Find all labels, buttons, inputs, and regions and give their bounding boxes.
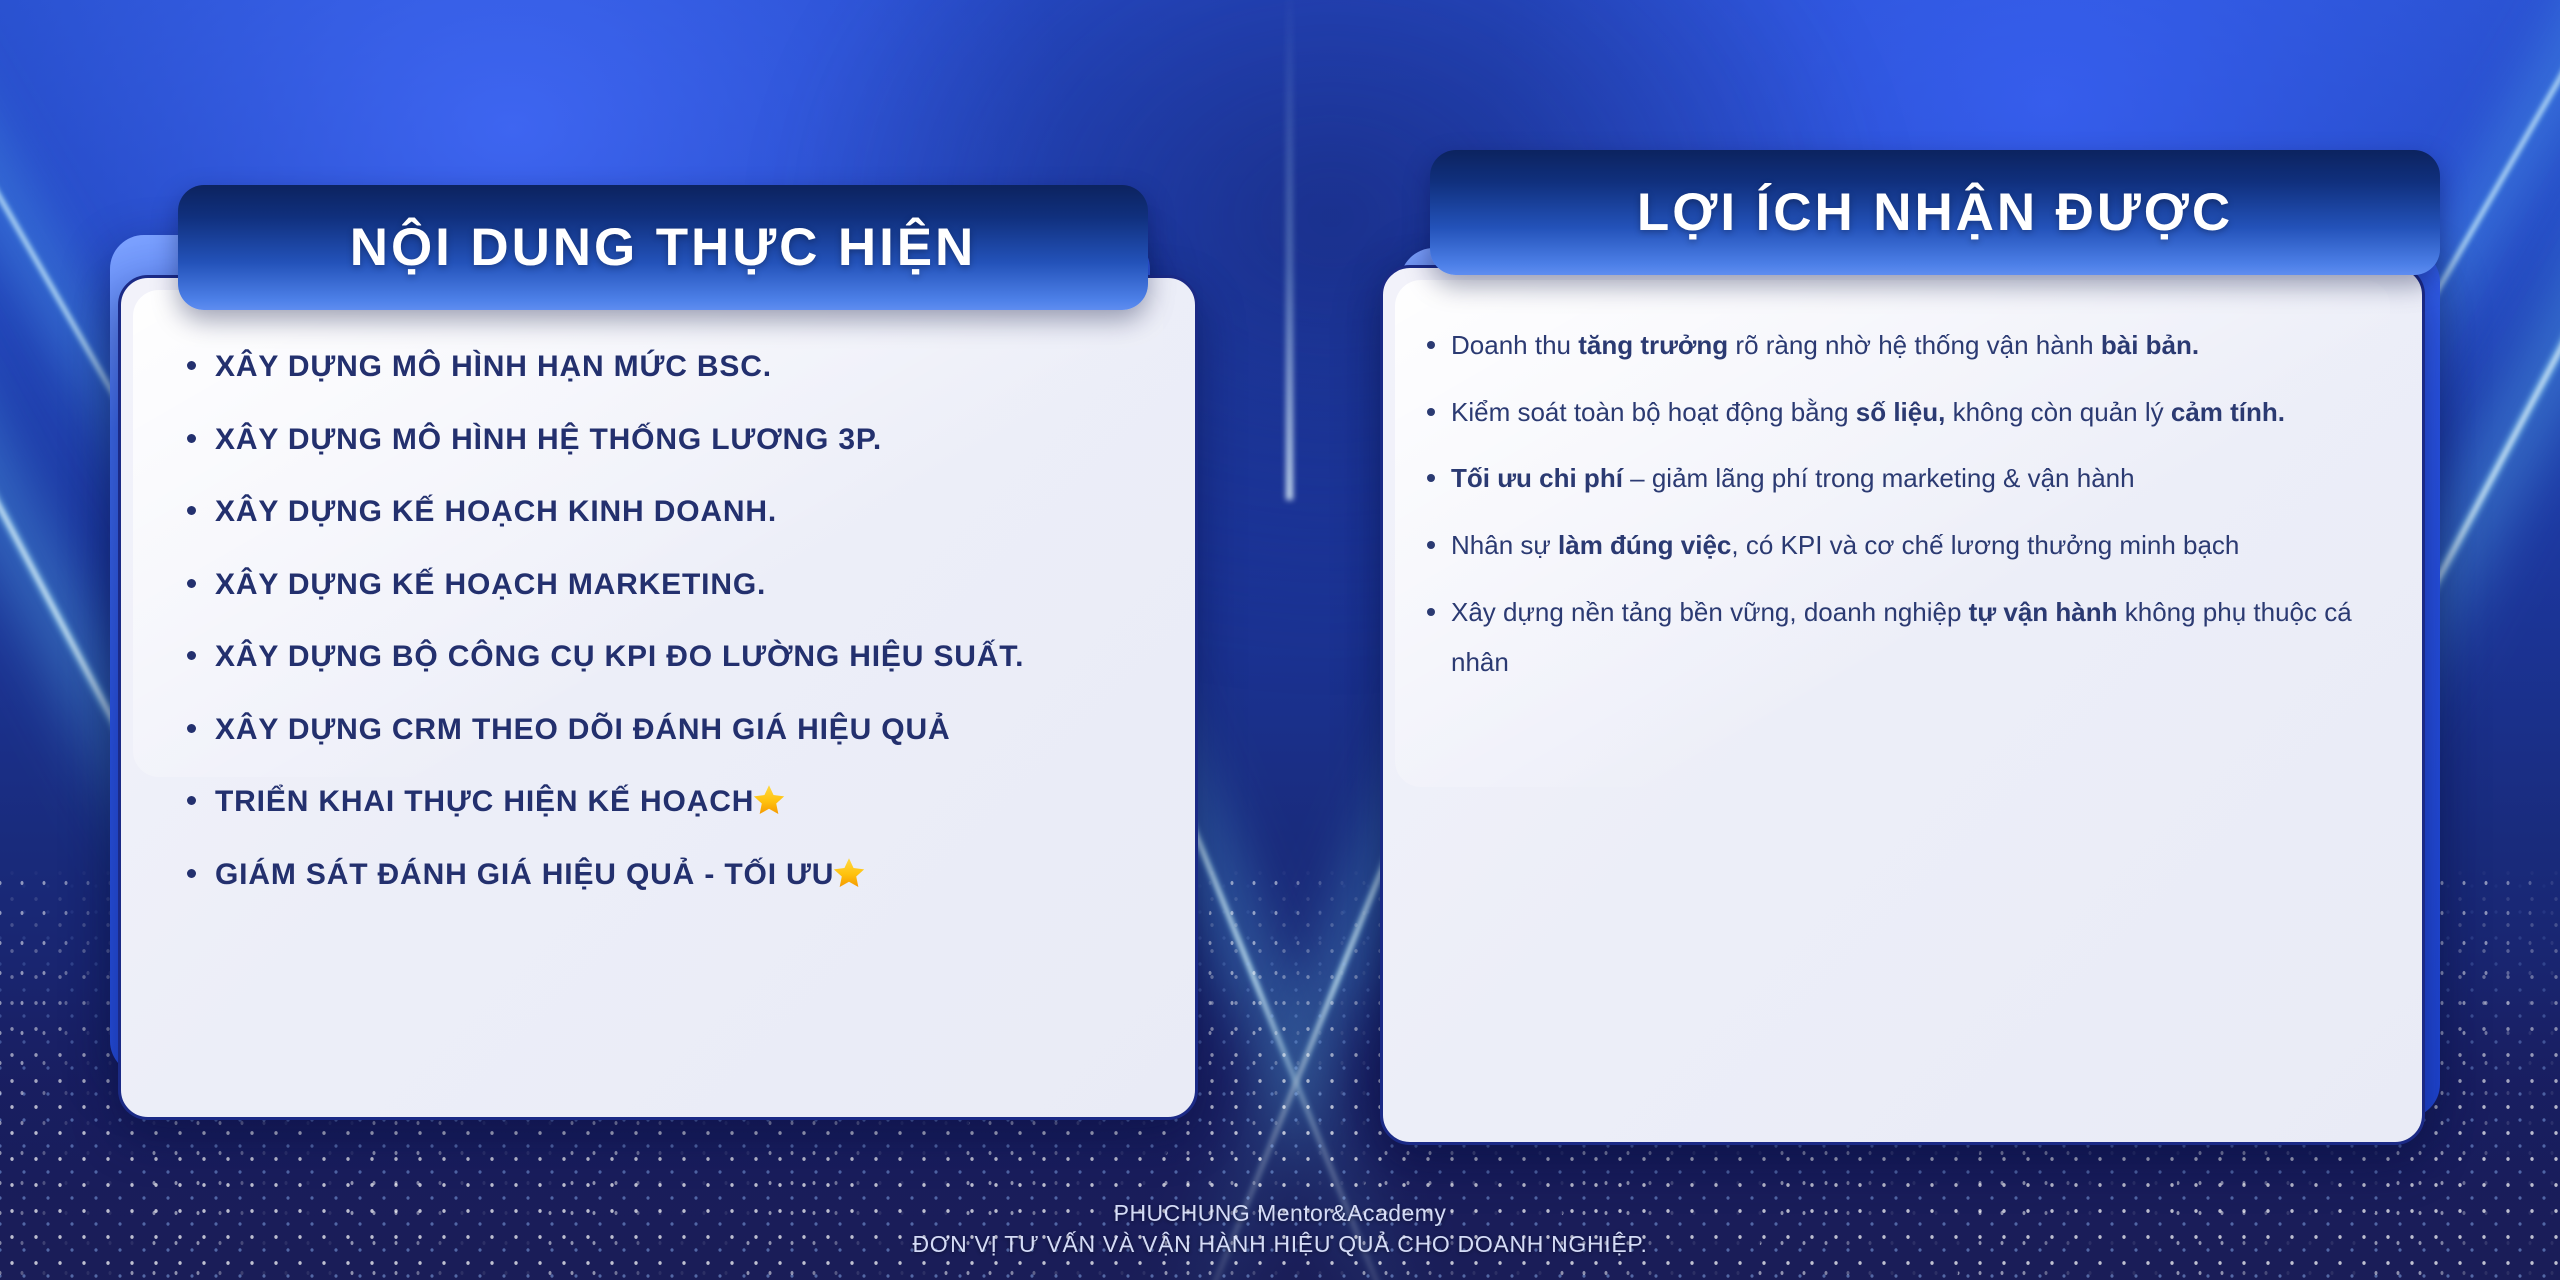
panel-card: Doanh thu tăng trưởng rõ ràng nhờ hệ thố… — [1380, 265, 2425, 1145]
list-item: Xây dựng nền tảng bền vững, doanh nghiệp… — [1419, 587, 2380, 688]
footer-tagline: ĐƠN VỊ TƯ VẤN VÀ VẬN HÀNH HIỆU QUẢ CHO D… — [0, 1231, 2560, 1258]
list-item-text: không còn quản lý — [1945, 397, 2171, 427]
panel-header-right: LỢI ÍCH NHẬN ĐƯỢC — [1430, 150, 2440, 275]
list-item-text: Nhân sự — [1451, 530, 1558, 560]
panel-card: XÂY DỰNG MÔ HÌNH HẠN MỨC BSC.XÂY DỰNG MÔ… — [118, 275, 1198, 1120]
list-item-text: Kiểm soát toàn bộ hoạt động bằng — [1451, 397, 1856, 427]
list-item-label: XÂY DỰNG KẾ HOẠCH KINH DOANH. — [215, 495, 777, 528]
list-item-emphasis: tăng trưởng — [1578, 330, 1728, 360]
list-item-text: – giảm lãng phí trong marketing & vận hà… — [1623, 463, 2135, 493]
list-item: XÂY DỰNG KẾ HOẠCH KINH DOANH. — [179, 493, 1149, 531]
list-item: XÂY DỰNG CRM THEO DÕI ĐÁNH GIÁ HIỆU QUẢ — [179, 711, 1149, 749]
panel-loi-ich-nhan-duoc: Doanh thu tăng trưởng rõ ràng nhờ hệ thố… — [1380, 150, 2470, 1130]
star-icon — [832, 856, 866, 890]
star-icon — [752, 783, 786, 817]
list-item-text: , có KPI và cơ chế lương thưởng minh bạc… — [1731, 530, 2239, 560]
list-item: XÂY DỰNG BỘ CÔNG CỤ KPI ĐO LƯỜNG HIỆU SU… — [179, 638, 1149, 676]
list-item: XÂY DỰNG MÔ HÌNH HẠN MỨC BSC. — [179, 348, 1149, 386]
slide-canvas: XÂY DỰNG MÔ HÌNH HẠN MỨC BSC.XÂY DỰNG MÔ… — [0, 0, 2560, 1280]
list-item: GIÁM SÁT ĐÁNH GIÁ HIỆU QUẢ - TỐI ƯU — [179, 856, 1149, 894]
list-item-emphasis: Tối ưu chi phí — [1451, 463, 1623, 493]
list-item: Doanh thu tăng trưởng rõ ràng nhờ hệ thố… — [1419, 320, 2380, 371]
list-item-label: XÂY DỰNG MÔ HÌNH HẠN MỨC BSC. — [215, 350, 772, 383]
list-item: TRIỂN KHAI THỰC HIỆN KẾ HOẠCH — [179, 783, 1149, 821]
panel-title-left: NỘI DUNG THỰC HIỆN — [350, 217, 976, 278]
list-item-label: XÂY DỰNG BỘ CÔNG CỤ KPI ĐO LƯỜNG HIỆU SU… — [215, 640, 1024, 673]
list-item: Kiểm soát toàn bộ hoạt động bằng số liệu… — [1419, 387, 2380, 438]
light-beam-center-shaft — [1286, 0, 1293, 500]
list-item-label: XÂY DỰNG KẾ HOẠCH MARKETING. — [215, 568, 766, 601]
panel-title-right: LỢI ÍCH NHẬN ĐƯỢC — [1637, 182, 2233, 243]
list-item-emphasis: bài bản. — [2101, 330, 2199, 360]
list-item-emphasis: cảm tính. — [2171, 397, 2285, 427]
list-item-label: XÂY DỰNG CRM THEO DÕI ĐÁNH GIÁ HIỆU QUẢ — [215, 713, 950, 746]
content-list-right: Doanh thu tăng trưởng rõ ràng nhờ hệ thố… — [1383, 268, 2422, 688]
list-item-emphasis: số liệu, — [1856, 397, 1946, 427]
list-item-label: XÂY DỰNG MÔ HÌNH HỆ THỐNG LƯƠNG 3P. — [215, 423, 882, 456]
footer: PHUCHUNG Mentor&Academy ĐƠN VỊ TƯ VẤN VÀ… — [0, 1200, 2560, 1258]
list-item-label: GIÁM SÁT ĐÁNH GIÁ HIỆU QUẢ - TỐI ƯU — [215, 858, 834, 891]
panel-noi-dung-thuc-hien: XÂY DỰNG MÔ HÌNH HẠN MỨC BSC.XÂY DỰNG MÔ… — [110, 185, 1210, 1115]
list-item-label: TRIỂN KHAI THỰC HIỆN KẾ HOẠCH — [215, 785, 754, 818]
list-item: XÂY DỰNG KẾ HOẠCH MARKETING. — [179, 566, 1149, 604]
content-list-left: XÂY DỰNG MÔ HÌNH HẠN MỨC BSC.XÂY DỰNG MÔ… — [121, 278, 1195, 893]
footer-brand: PHUCHUNG Mentor&Academy — [0, 1200, 2560, 1227]
list-item: XÂY DỰNG MÔ HÌNH HỆ THỐNG LƯƠNG 3P. — [179, 421, 1149, 459]
list-item-text: Doanh thu — [1451, 330, 1578, 360]
panel-header-left: NỘI DUNG THỰC HIỆN — [178, 185, 1148, 310]
list-item-text: Xây dựng nền tảng bền vững, doanh nghiệp — [1451, 597, 1969, 627]
list-item: Tối ưu chi phí – giảm lãng phí trong mar… — [1419, 453, 2380, 504]
list-item: Nhân sự làm đúng việc, có KPI và cơ chế … — [1419, 520, 2380, 571]
list-item-emphasis: làm đúng việc — [1558, 530, 1731, 560]
list-item-text: rõ ràng nhờ hệ thống vận hành — [1728, 330, 2101, 360]
list-item-emphasis: tự vận hành — [1969, 597, 2118, 627]
